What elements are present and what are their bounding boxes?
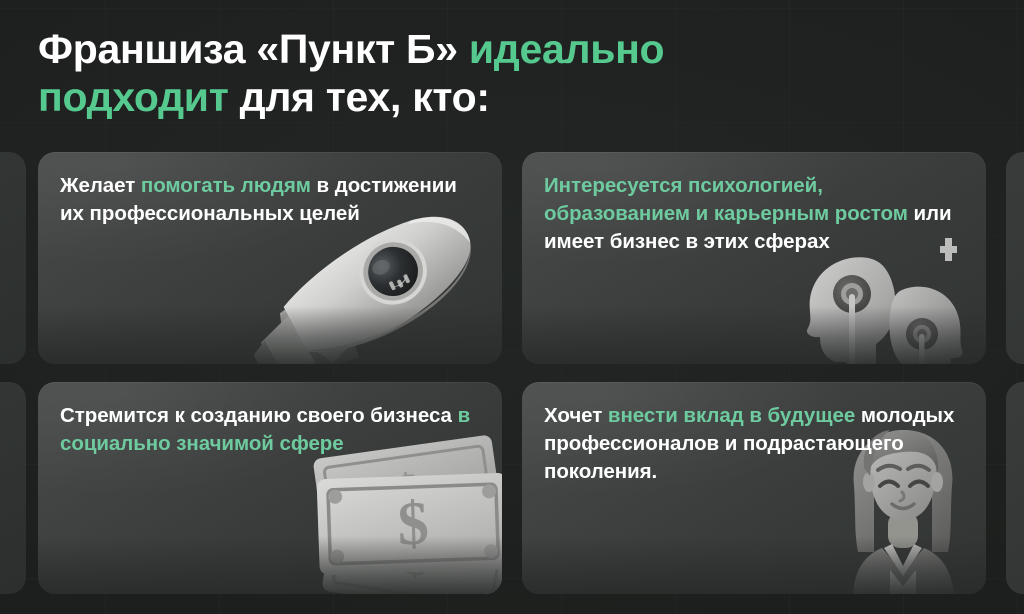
edge-card-right-top xyxy=(1006,152,1024,364)
card-psychology-interest-text: Интересуется психологией, образованием и… xyxy=(522,152,986,256)
card-bottom-fade xyxy=(522,536,986,594)
card-bottom-fade xyxy=(38,536,502,594)
card-contribute-future-text: Хочет внести вклад в будущее молодых про… xyxy=(522,382,986,486)
card1-plain-1: Желает xyxy=(60,174,141,197)
card-own-business-text: Стремится к созданию своего бизнеса в со… xyxy=(38,382,502,458)
card-bottom-fade xyxy=(522,306,986,364)
page-title-line2-plain: для тех, кто: xyxy=(229,74,490,120)
card-psychology-interest[interactable]: Интересуется психологией, образованием и… xyxy=(522,152,986,364)
card2-accent: Интересуется психологией, образованием и… xyxy=(544,174,908,225)
benefit-card-grid: Желает помогать людям в достижении их пр… xyxy=(38,152,986,578)
page-title-line1-plain: Франшиза «Пункт Б» xyxy=(38,26,469,72)
svg-text:$: $ xyxy=(392,463,423,519)
edge-card-right-bottom xyxy=(1006,382,1024,594)
rocket-3d-icon xyxy=(226,208,502,364)
card-contribute-future[interactable]: Хочет внести вклад в будущее молодых про… xyxy=(522,382,986,594)
edge-card-left-top xyxy=(0,152,26,364)
card-help-people[interactable]: Желает помогать людям в достижении их пр… xyxy=(38,152,502,364)
edge-card-left-bottom xyxy=(0,382,26,594)
page-title-line1-accent: идеально xyxy=(469,26,665,72)
card4-accent: внести вклад в будущее xyxy=(608,404,855,427)
card3-plain-1: Стремится к созданию своего бизнеса xyxy=(60,404,458,427)
svg-text:$: $ xyxy=(396,489,429,558)
card-bottom-fade xyxy=(38,306,502,364)
svg-text:$: $ xyxy=(401,532,433,588)
page-title: Франшиза «Пункт Б» идеально подходит для… xyxy=(38,26,918,122)
card1-accent: помогать людям xyxy=(141,174,311,197)
card-help-people-text: Желает помогать людям в достижении их пр… xyxy=(38,152,502,228)
page-title-line2-accent: подходит xyxy=(38,74,229,120)
card-own-business[interactable]: $ $ $ Стремится к созданию своего бизн xyxy=(38,382,502,594)
card4-plain-1: Хочет xyxy=(544,404,608,427)
